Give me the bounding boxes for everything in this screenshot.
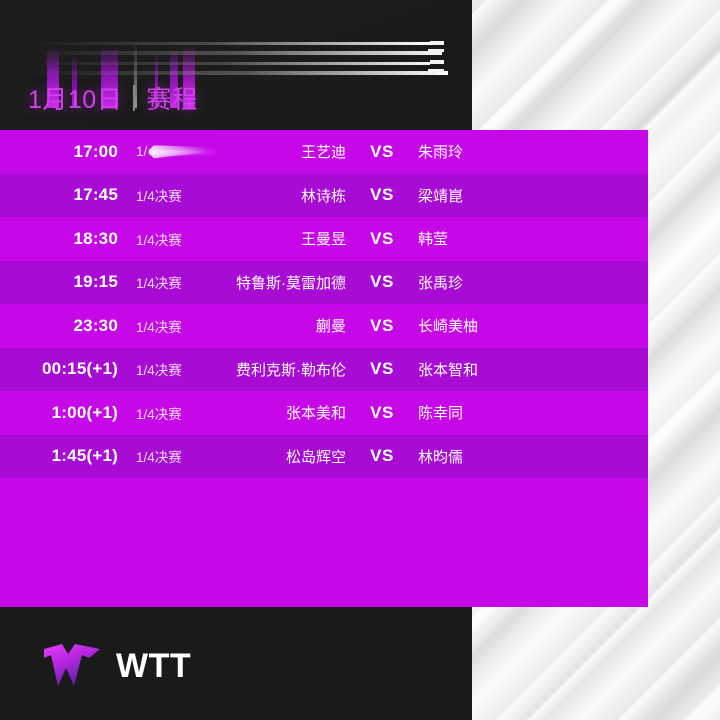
match-round: 1/4决赛 [118, 272, 228, 292]
player-one: 王曼昱 [228, 228, 346, 249]
vs-label: VS [346, 316, 418, 336]
player-two: 长崎美柚 [418, 315, 648, 336]
match-round: 1/4决赛 [118, 359, 228, 379]
wtt-logo: WTT [42, 640, 191, 693]
player-two: 朱雨玲 [418, 141, 648, 162]
match-round: 1/ [118, 144, 228, 159]
speed-line-cap-4 [428, 69, 444, 72]
match-row[interactable]: 00:15(+1)1/4决赛费利克斯·勒布伦VS张本智和 [0, 348, 648, 392]
match-round: 1/4决赛 [118, 229, 228, 249]
header-title: 1月10日 赛程 [28, 80, 198, 116]
vs-label: VS [346, 229, 418, 249]
match-row[interactable]: 18:301/4决赛王曼昱VS韩莹 [0, 217, 648, 261]
match-round: 1/4决赛 [118, 185, 228, 205]
player-one: 蒯曼 [228, 315, 346, 336]
vs-label: VS [346, 142, 418, 162]
match-time: 1:00(+1) [0, 403, 118, 423]
title-divider [133, 85, 135, 111]
vs-label: VS [346, 185, 418, 205]
player-one: 费利克斯·勒布伦 [228, 359, 346, 380]
match-time: 23:30 [0, 316, 118, 336]
wtt-wordmark: WTT [116, 647, 191, 686]
player-two: 梁靖崑 [418, 185, 648, 206]
match-round: 1/4决赛 [118, 316, 228, 336]
match-row[interactable]: 1:00(+1)1/4决赛张本美和VS陈幸同 [0, 391, 648, 435]
player-two: 张禹珍 [418, 272, 648, 293]
match-row[interactable]: 23:301/4决赛蒯曼VS长崎美柚 [0, 304, 648, 348]
speed-line-1 [30, 42, 430, 45]
player-two: 韩莹 [418, 228, 648, 249]
schedule-graphic: 1月10日 赛程 17:001/王艺迪VS朱雨玲17:451/4决赛林诗栋VS梁… [0, 0, 720, 720]
speed-line-3 [30, 62, 430, 65]
player-one: 松岛辉空 [228, 446, 346, 467]
match-row[interactable]: 1:45(+1)1/4决赛松岛辉空VS林昀儒 [0, 435, 648, 479]
player-one: 特鲁斯·莫雷加德 [228, 272, 346, 293]
match-schedule-table: 17:001/王艺迪VS朱雨玲17:451/4决赛林诗栋VS梁靖崑18:301/… [0, 130, 648, 607]
match-time: 1:45(+1) [0, 446, 118, 466]
match-row[interactable]: 17:001/王艺迪VS朱雨玲 [0, 130, 648, 174]
vs-label: VS [346, 403, 418, 423]
match-time: 19:15 [0, 272, 118, 292]
speed-line-cap-2 [428, 49, 444, 52]
match-time: 17:45 [0, 185, 118, 205]
player-one: 林诗栋 [228, 185, 346, 206]
player-one: 张本美和 [228, 402, 346, 423]
vs-label: VS [346, 446, 418, 466]
match-row[interactable]: 19:151/4决赛特鲁斯·莫雷加德VS张禹珍 [0, 261, 648, 305]
speed-line-4 [30, 71, 448, 75]
match-time: 00:15(+1) [0, 359, 118, 379]
match-time: 17:00 [0, 142, 118, 162]
player-two: 张本智和 [418, 359, 648, 380]
match-time: 18:30 [0, 229, 118, 249]
wtt-w-mark-icon [42, 640, 102, 693]
speed-line-cap-1 [430, 41, 444, 45]
match-row[interactable]: 17:451/4决赛林诗栋VS梁靖崑 [0, 174, 648, 218]
match-round: 1/4决赛 [118, 403, 228, 423]
glitch-streak-blur [149, 149, 219, 154]
section-label: 赛程 [146, 80, 198, 116]
player-two: 林昀儒 [418, 446, 648, 467]
player-one: 王艺迪 [228, 141, 346, 162]
speed-line-cap-3 [430, 60, 444, 64]
player-two: 陈幸同 [418, 402, 648, 423]
vs-label: VS [346, 359, 418, 379]
match-round: 1/4决赛 [118, 446, 228, 466]
schedule-date: 1月10日 [28, 80, 122, 116]
speed-line-2 [30, 51, 442, 55]
vs-label: VS [346, 272, 418, 292]
